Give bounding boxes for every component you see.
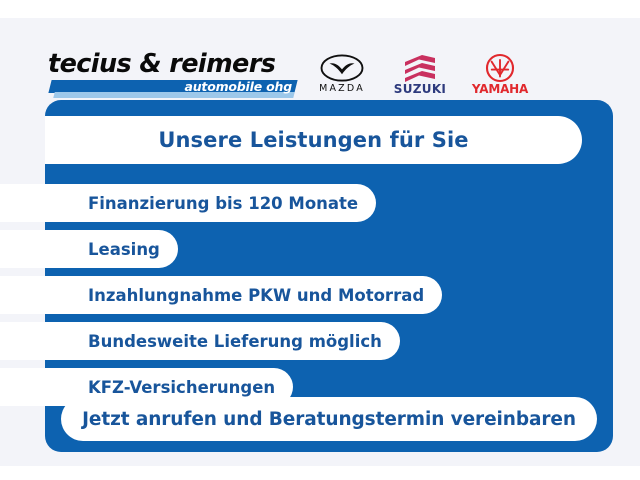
list-item: Finanzierung bis 120 Monate: [45, 184, 613, 222]
brand-suzuki: SUZUKI: [383, 52, 457, 104]
list-item: Inzahlungnahme PKW und Motorrad: [45, 276, 613, 314]
page-title: Unsere Leistungen für Sie: [158, 128, 468, 152]
suzuki-wordmark: SUZUKI: [394, 83, 446, 95]
advertisement-banner: tecius & reimers automobile ohg MAZDA: [0, 0, 640, 480]
panel-heading: Unsere Leistungen für Sie: [45, 116, 582, 164]
list-item: Bundesweite Lieferung möglich: [45, 322, 613, 360]
service-pill-financing[interactable]: Finanzierung bis 120 Monate: [0, 184, 376, 222]
service-label: Bundesweite Lieferung möglich: [0, 332, 382, 351]
dealer-tagline: automobile ohg: [48, 79, 292, 94]
service-label: Inzahlungnahme PKW und Motorrad: [0, 286, 424, 305]
dealer-name: tecius & reimers: [48, 50, 298, 78]
suzuki-logo-icon: [402, 52, 438, 83]
call-now-button[interactable]: Jetzt anrufen und Beratungstermin verein…: [61, 397, 597, 441]
brand-mazda: MAZDA: [305, 52, 379, 104]
service-label: Leasing: [0, 240, 160, 259]
brand-yamaha: YAMAHA: [463, 52, 537, 104]
service-pill-delivery[interactable]: Bundesweite Lieferung möglich: [0, 322, 400, 360]
services-panel: Unsere Leistungen für Sie Finanzierung b…: [45, 100, 613, 452]
yamaha-wordmark: YAMAHA: [472, 83, 528, 95]
yamaha-logo-icon: [485, 52, 515, 83]
service-pill-trade-in[interactable]: Inzahlungnahme PKW und Motorrad: [0, 276, 442, 314]
brand-logo-row: MAZDA SUZUKI: [305, 52, 540, 104]
dealer-logo: tecius & reimers automobile ohg: [48, 50, 298, 100]
service-label: Finanzierung bis 120 Monate: [0, 194, 358, 213]
mazda-logo-icon: [320, 52, 364, 83]
list-item: Leasing: [45, 230, 613, 268]
service-label: KFZ-Versicherungen: [0, 378, 275, 397]
brand-header: tecius & reimers automobile ohg MAZDA: [0, 24, 640, 90]
call-now-label: Jetzt anrufen und Beratungstermin verein…: [82, 409, 576, 430]
service-pill-leasing[interactable]: Leasing: [0, 230, 178, 268]
services-list: Finanzierung bis 120 Monate Leasing Inza…: [45, 184, 613, 414]
mazda-wordmark: MAZDA: [319, 83, 365, 95]
